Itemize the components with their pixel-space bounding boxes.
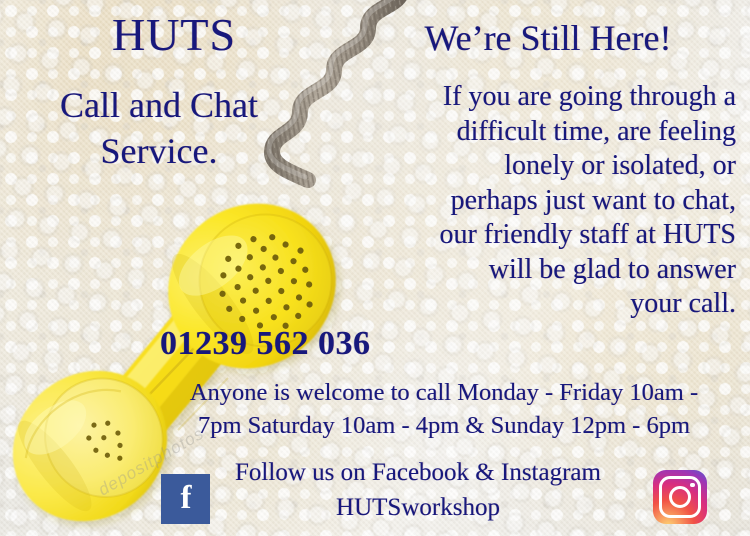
opening-hours-line-1: Anyone is welcome to call Monday - Frida…: [148, 377, 740, 410]
body-line-4: perhaps just want to chat,: [324, 184, 736, 219]
opening-hours-line-2: 7pm Saturday 10am - 4pm & Sunday 12pm - …: [148, 410, 740, 443]
instagram-flash-dot-icon: [690, 483, 695, 488]
body-line-3: lonely or isolated, or: [324, 149, 736, 184]
body-line-6: will be glad to answer: [324, 253, 736, 288]
facebook-f-glyph: f: [181, 482, 192, 515]
instagram-camera-outline: [659, 476, 701, 518]
phone-number: 01239 562 036: [160, 325, 371, 363]
opening-hours: Anyone is welcome to call Monday - Frida…: [148, 377, 740, 442]
body-line-5: our friendly staff at HUTS: [324, 218, 736, 253]
body-line-1: If you are going through a: [324, 80, 736, 115]
social-follow-line: Follow us on Facebook & Instagram: [188, 455, 648, 490]
social-follow-text: Follow us on Facebook & Instagram HUTSwo…: [188, 455, 648, 525]
body-line-2: difficult time, are feeling: [324, 115, 736, 150]
body-paragraph: If you are going through a difficult tim…: [324, 80, 736, 322]
instagram-icon[interactable]: [653, 470, 707, 524]
headline: We’re Still Here!: [358, 20, 738, 58]
service-subtitle: Call and Chat Service.: [4, 82, 314, 174]
social-handle: HUTSworkshop: [188, 490, 648, 525]
service-subtitle-line-1: Call and Chat: [60, 85, 258, 125]
facebook-icon[interactable]: f: [161, 474, 210, 524]
service-subtitle-line-2: Service.: [4, 128, 314, 174]
instagram-lens-icon: [669, 486, 691, 508]
body-line-7: your call.: [324, 287, 736, 322]
poster-canvas: depositphotos HUTS Call and Chat Service…: [0, 0, 750, 536]
page-title: HUTS: [24, 12, 324, 58]
